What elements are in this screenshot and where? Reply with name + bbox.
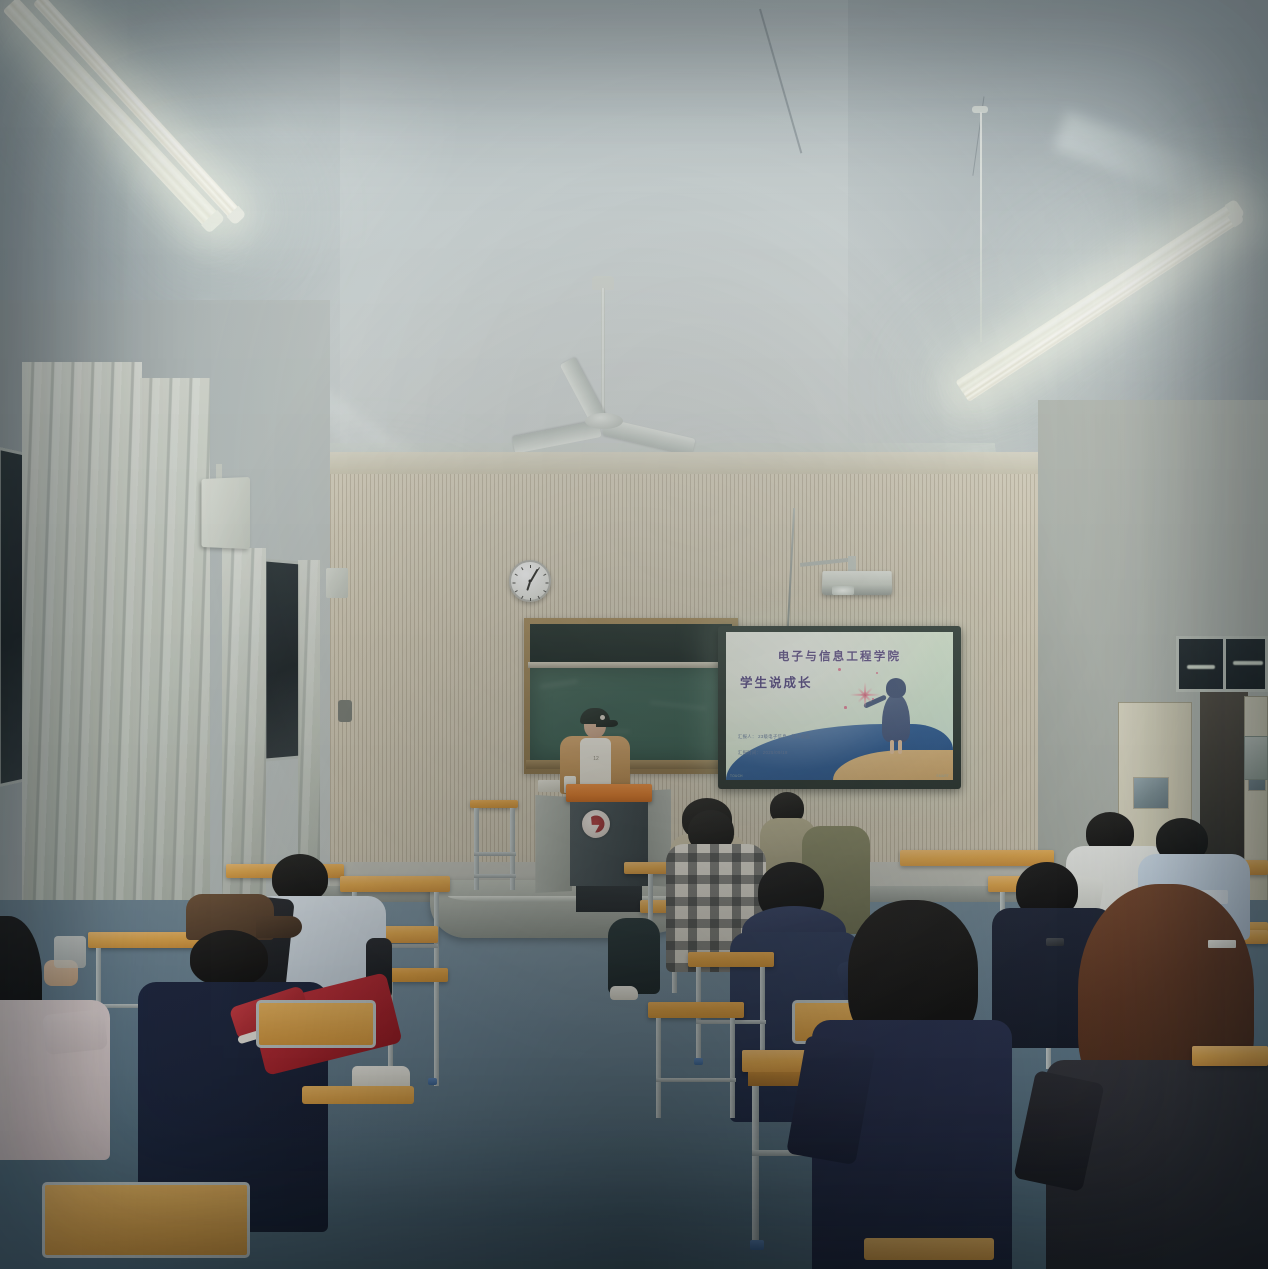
presenter-cap-brim [596,720,618,727]
light-hanger-rod [980,112,982,342]
podium-emblem [582,810,610,838]
podium-top [566,784,652,802]
university-crest-mark [588,816,605,833]
slide-girl-leg [890,740,894,754]
panel-model-label: SMART [936,774,949,778]
shoe [610,986,638,1000]
slide-date-line: 汇报时间： 2025/09/18 [738,750,788,756]
projector-lens [832,586,854,595]
slide-girl-head [886,678,906,698]
plastic-bag [54,936,86,968]
window-curtain[interactable] [222,548,266,898]
presenter-cap-logo [600,715,605,720]
slide-girl-body [882,694,910,742]
paper-box [538,780,560,792]
chalk-tray [526,760,736,769]
student-chair[interactable] [256,1000,376,1048]
desk-foot [694,1058,703,1065]
student-desk[interactable] [1192,1046,1268,1066]
window-curtain[interactable] [298,560,320,860]
desk-leg [656,1018,661,1118]
classroom-photo: 电子与信息工程学院 学生说成长 汇报人： 23级电子信息一班齐雨菡 汇报时间： … [0,0,1268,1269]
hair [190,930,268,986]
ceiling-fan-rod [601,288,605,418]
student-desk[interactable] [688,952,774,967]
desk-leg [752,1086,759,1246]
student-desk[interactable] [900,850,1054,866]
podium-side-panel [535,795,572,893]
desk-leg [730,1018,735,1118]
student-desk[interactable] [340,876,450,892]
podium-base [576,886,642,912]
desk-leg [760,967,765,1063]
paper-on-desk [1208,940,1236,948]
presenter-shirt-print: 12 [588,756,604,780]
slide-subtitle: 学生说成长 [740,672,813,691]
wall-poster [1244,736,1268,780]
stool-rail [474,874,516,878]
panel-brand-label: TOUCH [730,774,743,778]
desk-leg [434,982,439,1086]
desk-foot [428,1078,437,1085]
arm [42,1009,108,1055]
wooden-stool[interactable] [470,800,518,808]
slide-title: 电子与信息工程学院 [726,648,953,664]
clock-hour-hand [526,582,531,591]
student-desk[interactable] [648,1002,744,1018]
desk-foot [750,1240,764,1250]
wall-switch-panel[interactable] [326,568,348,598]
window-curtain[interactable] [140,378,210,938]
left-window [263,558,301,761]
torso [608,918,660,994]
slide-presenter-line: 汇报人： 23级电子信息一班齐雨菡 [738,734,810,740]
cap-brim [256,916,302,938]
wall-sensor [338,700,352,722]
slide-girl-leg [898,740,902,754]
door-window [1133,777,1169,809]
wall-clock [509,560,551,602]
wall-cornice [318,452,1118,474]
chair-seat[interactable] [302,1086,414,1104]
hair [272,854,328,902]
desk-rail [656,1078,736,1082]
stool-rail [474,852,516,856]
phone-on-desk [1046,938,1064,946]
door-transom-window [1176,636,1268,692]
chair-seat[interactable] [864,1238,994,1260]
presentation-slide[interactable]: 电子与信息工程学院 学生说成长 汇报人： 23级电子信息一班齐雨菡 汇报时间： … [726,632,953,780]
student-chair[interactable] [42,1182,250,1258]
ceiling-fan-hub [585,413,623,429]
chalkboard-upper-panel [530,624,732,662]
wall-speaker [201,477,250,549]
